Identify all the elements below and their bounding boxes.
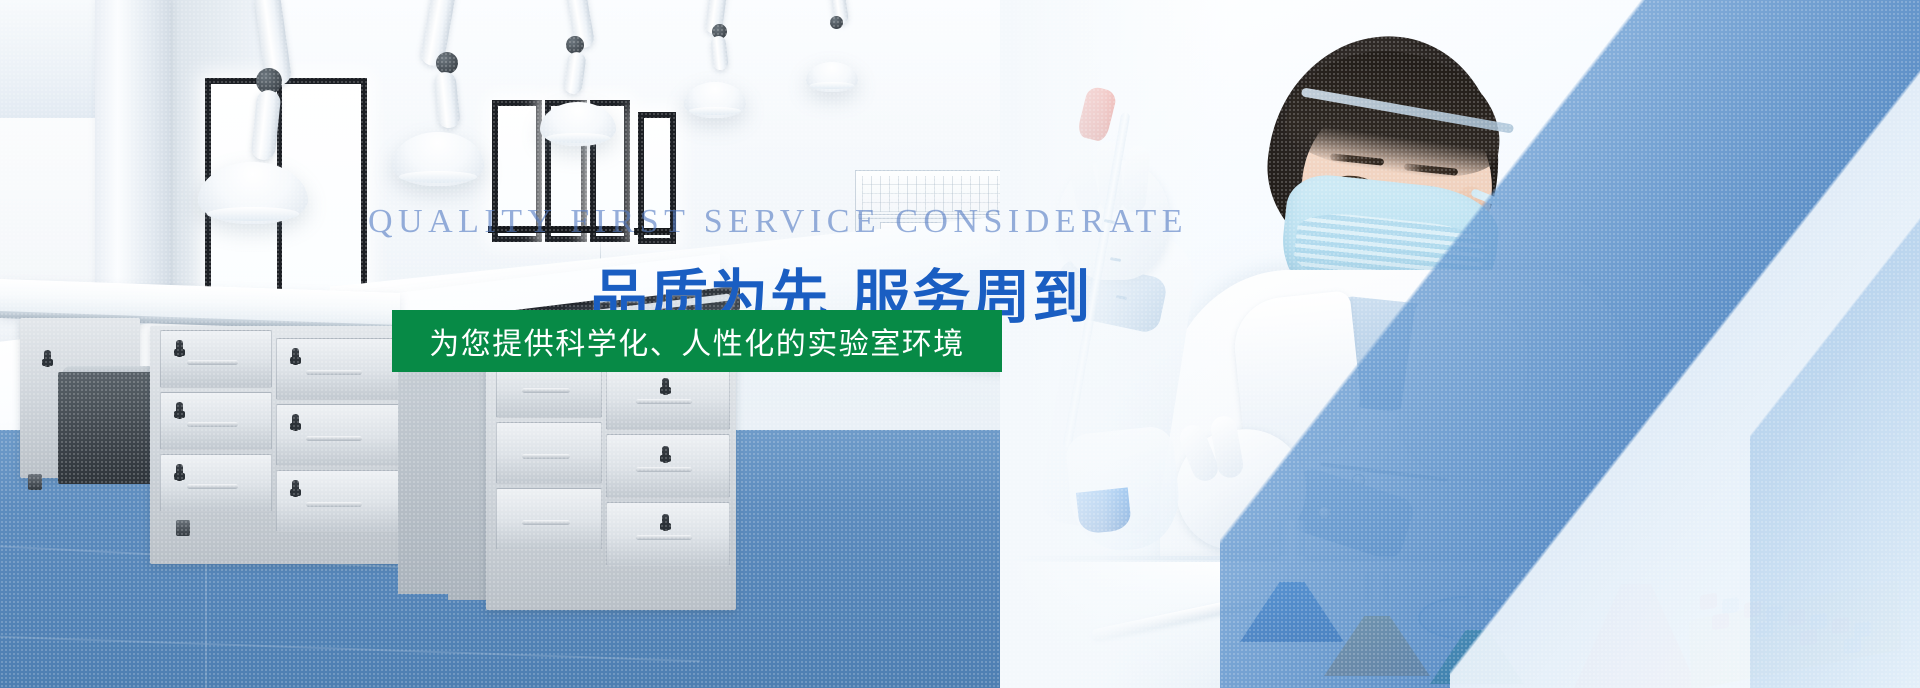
hero-banner: QUALITY FIRST SERVICE CONSIDERATE 品质为先 服… [0, 0, 1920, 688]
banner-subtitle-bar: 为您提供科学化、人性化的实验室环境 [392, 310, 1002, 372]
banner-eyebrow-text: QUALITY FIRST SERVICE CONSIDERATE [368, 203, 1188, 241]
banner-subtitle-text: 为您提供科学化、人性化的实验室环境 [429, 319, 965, 363]
banner-text-layer: QUALITY FIRST SERVICE CONSIDERATE 品质为先 服… [0, 0, 1920, 688]
